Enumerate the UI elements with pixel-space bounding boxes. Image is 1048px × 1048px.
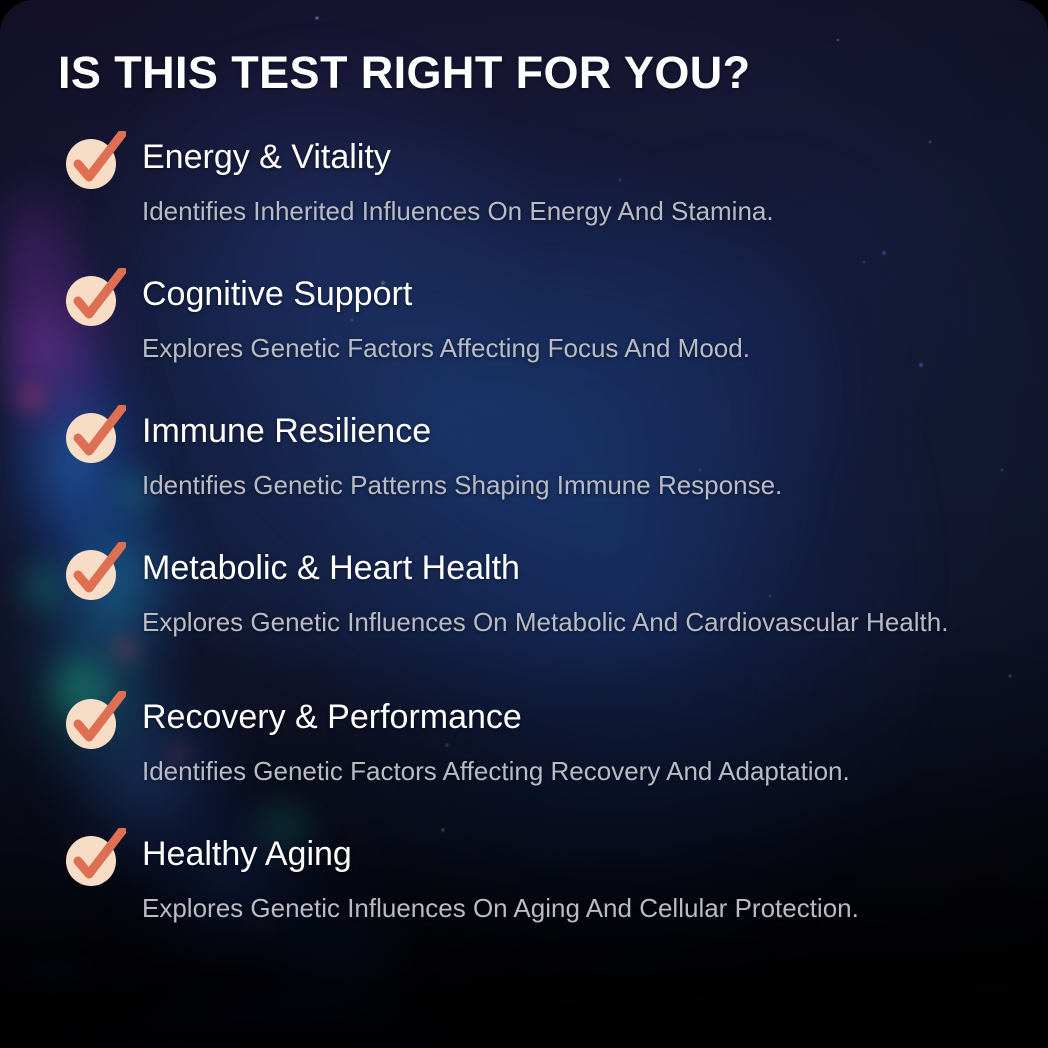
card-content: IS THIS TEST RIGHT FOR YOU? Energy & Vit… — [0, 0, 1048, 927]
feature-description: Explores Genetic Influences On Aging And… — [142, 890, 1008, 927]
page-title: IS THIS TEST RIGHT FOR YOU? — [58, 0, 1008, 95]
feature-title: Recovery & Performance — [142, 695, 1008, 739]
feature-description: Explores Genetic Influences On Metabolic… — [142, 604, 1008, 641]
feature-title: Immune Resilience — [142, 409, 1008, 453]
feature-item-immune-resilience: Immune Resilience Identifies Genetic Pat… — [58, 409, 1008, 504]
feature-item-energy-vitality: Energy & Vitality Identifies Inherited I… — [58, 135, 1008, 230]
check-circle-icon — [64, 542, 126, 604]
feature-description: Identifies Genetic Patterns Shaping Immu… — [142, 467, 1008, 504]
feature-title: Energy & Vitality — [142, 135, 1008, 179]
feature-item-recovery-performance: Recovery & Performance Identifies Geneti… — [58, 695, 1008, 790]
feature-title: Cognitive Support — [142, 272, 1008, 316]
feature-title: Metabolic & Heart Health — [142, 546, 1008, 590]
feature-list: Energy & Vitality Identifies Inherited I… — [58, 135, 1008, 927]
check-circle-icon — [64, 268, 126, 330]
feature-description: Explores Genetic Factors Affecting Focus… — [142, 330, 1008, 367]
feature-item-metabolic-heart-health: Metabolic & Heart Health Explores Geneti… — [58, 546, 1008, 641]
check-circle-icon — [64, 691, 126, 753]
promo-card: IS THIS TEST RIGHT FOR YOU? Energy & Vit… — [0, 0, 1048, 1048]
feature-item-cognitive-support: Cognitive Support Explores Genetic Facto… — [58, 272, 1008, 367]
feature-description: Identifies Genetic Factors Affecting Rec… — [142, 753, 1008, 790]
feature-item-healthy-aging: Healthy Aging Explores Genetic Influence… — [58, 832, 1008, 927]
check-circle-icon — [64, 828, 126, 890]
feature-title: Healthy Aging — [142, 832, 1008, 876]
check-circle-icon — [64, 405, 126, 467]
check-circle-icon — [64, 131, 126, 193]
feature-description: Identifies Inherited Influences On Energ… — [142, 193, 1008, 230]
